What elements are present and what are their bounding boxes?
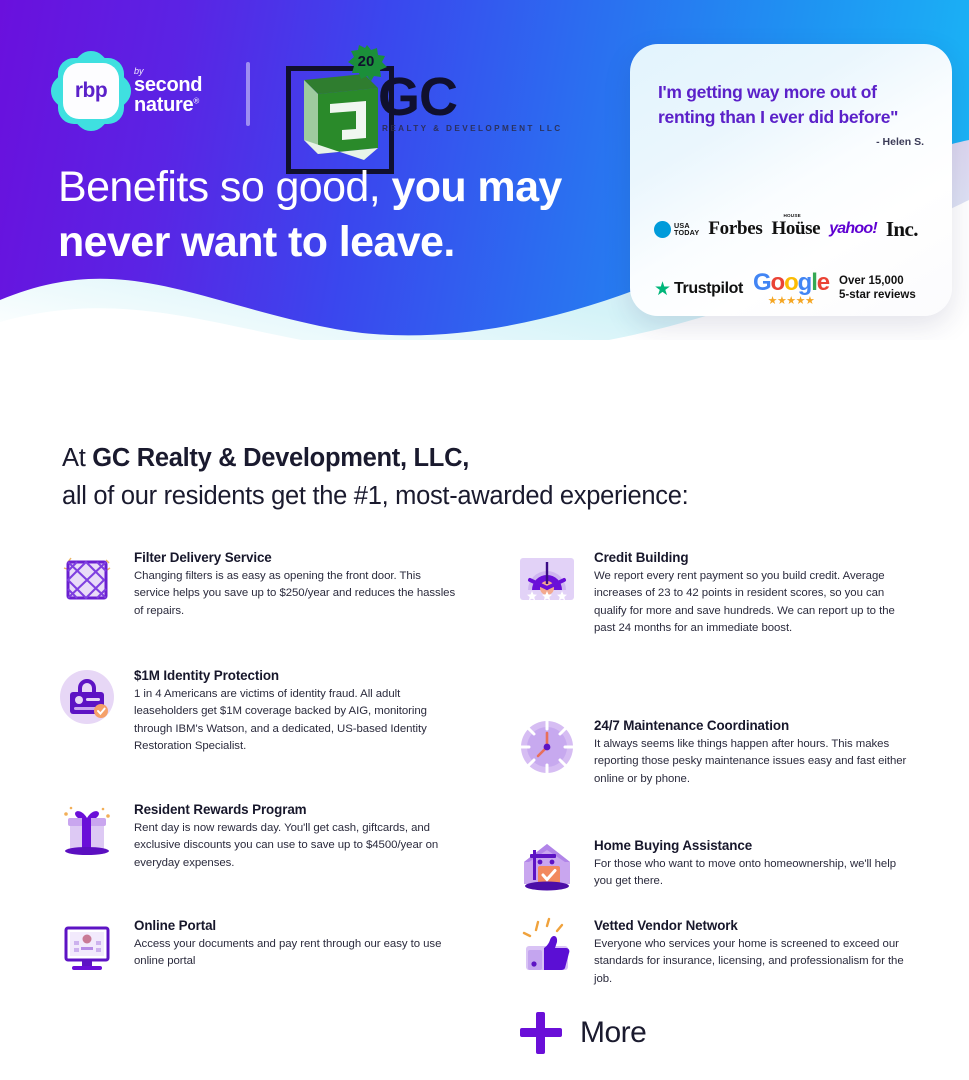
- trustpilot-logo: ★ Trustpilot: [654, 280, 743, 299]
- gc-letters: GC: [378, 70, 457, 124]
- house-wordmark: Hoüse: [772, 218, 821, 239]
- rbp-second-nature-logo: rbp by secondnature®: [58, 58, 202, 124]
- benefit-item-credit-building: Credit Building We report every rent pay…: [516, 548, 916, 638]
- plus-icon[interactable]: [520, 1012, 562, 1054]
- press-logo-row: USA TODAY Forbes HOUSE Hoüse yahoo! Inc.: [654, 216, 932, 242]
- benefit-title: Resident Rewards Program: [134, 802, 456, 817]
- benefit-title: Online Portal: [134, 918, 456, 933]
- section-title: At GC Realty & Development, LLC, all of …: [62, 440, 762, 515]
- rbp-starburst-icon: rbp: [58, 58, 124, 124]
- trustpilot-wordmark: Trustpilot: [674, 280, 743, 298]
- benefit-description: For those who want to move onto homeowne…: [594, 856, 916, 891]
- testimonial-card: I'm getting way more out of renting than…: [630, 44, 952, 316]
- identity-lock-icon: [56, 666, 118, 728]
- logo-divider: [246, 62, 250, 126]
- hero-headline: Benefits so good, you may never want to …: [58, 160, 618, 270]
- usa-today-logo: USA TODAY: [654, 221, 699, 238]
- benefit-item-identity-protection: $1M Identity Protection 1 in 4 Americans…: [56, 666, 456, 756]
- credit-gauge-icon: [516, 548, 578, 610]
- google-stars-icon: ★★★★★: [753, 296, 829, 307]
- more-row[interactable]: More: [520, 1012, 646, 1054]
- gc-subtitle: REALTY & DEVELOPMENT LLC: [382, 124, 563, 133]
- trustpilot-star-icon: ★: [654, 280, 671, 299]
- review-count-line2: 5-star reviews: [839, 289, 916, 303]
- gift-icon: [56, 800, 118, 862]
- yahoo-logo: yahoo!: [829, 220, 877, 238]
- benefit-title: Filter Delivery Service: [134, 550, 456, 565]
- review-count: Over 15,000 5-star reviews: [839, 275, 916, 303]
- benefit-description: We report every rent payment so you buil…: [594, 568, 916, 638]
- benefit-description: Rent day is now rewards day. You'll get …: [134, 820, 456, 872]
- testimonial-quote: I'm getting way more out of renting than…: [658, 80, 926, 130]
- benefit-item-vetted-vendors: Vetted Vendor Network Everyone who servi…: [516, 916, 916, 988]
- benefit-title: 24/7 Maintenance Coordination: [594, 718, 916, 733]
- title-prefix: At: [62, 444, 92, 472]
- more-label: More: [580, 1016, 646, 1050]
- second-nature-wordmark: secondnature®: [134, 76, 202, 115]
- google-logo: Google ★★★★★: [753, 271, 829, 307]
- poster-page: rbp by secondnature® 20: [0, 0, 969, 1080]
- benefit-description: Access your documents and pay rent throu…: [134, 936, 456, 971]
- house-beautiful-logo: HOUSE Hoüse: [772, 218, 821, 240]
- reviews-row: ★ Trustpilot Google ★★★★★ Over 15,000 5-…: [654, 272, 944, 306]
- benefit-item-resident-rewards: Resident Rewards Program Rent day is now…: [56, 800, 456, 872]
- gc-realty-logo: 20 GC REALTY & DEVELOPMENT LLC: [284, 46, 534, 136]
- headline-normal: Benefits so good,: [58, 163, 391, 211]
- benefit-description: Changing filters is as easy as opening t…: [134, 568, 456, 620]
- benefit-title: Credit Building: [594, 550, 916, 565]
- benefit-item-maintenance: 24/7 Maintenance Coordination It always …: [516, 716, 916, 788]
- svg-text:20: 20: [358, 53, 375, 70]
- by-label: by: [134, 67, 202, 76]
- benefit-item-filter-delivery: Filter Delivery Service Changing filters…: [56, 548, 456, 620]
- review-count-line1: Over 15,000: [839, 275, 916, 289]
- headline-bold-2: never want to leave.: [58, 218, 455, 266]
- benefit-title: $1M Identity Protection: [134, 668, 456, 683]
- benefit-description: It always seems like things happen after…: [594, 736, 916, 788]
- headline-bold-1: you may: [391, 163, 561, 211]
- benefit-title: Vetted Vendor Network: [594, 918, 916, 933]
- thumbs-up-icon: [516, 916, 578, 978]
- gc-green-swirl-icon: [298, 72, 386, 162]
- title-line2: all of our residents get the #1, most-aw…: [62, 482, 688, 510]
- clock-icon: [516, 716, 578, 778]
- benefit-item-online-portal: Online Portal Access your documents and …: [56, 916, 456, 978]
- usa-today-line2: TODAY: [674, 229, 699, 236]
- title-company: GC Realty & Development, LLC,: [92, 444, 469, 472]
- forbes-logo: Forbes: [708, 218, 762, 240]
- benefit-item-home-buying: Home Buying Assistance For those who wan…: [516, 836, 916, 898]
- testimonial-author: - Helen S.: [876, 136, 924, 148]
- benefit-title: Home Buying Assistance: [594, 838, 916, 853]
- house-small-label: HOUSE: [784, 213, 801, 218]
- google-wordmark: Google: [753, 271, 829, 295]
- hero-section: rbp by secondnature® 20: [0, 0, 969, 340]
- inc-logo: Inc.: [886, 217, 918, 242]
- home-sign-icon: [516, 836, 578, 898]
- filter-icon: [56, 548, 118, 610]
- monitor-icon: [56, 916, 118, 978]
- benefit-description: 1 in 4 Americans are victims of identity…: [134, 686, 456, 756]
- benefit-description: Everyone who services your home is scree…: [594, 936, 916, 988]
- rbp-wordmark: rbp: [75, 79, 107, 103]
- usa-today-dot-icon: [654, 221, 671, 238]
